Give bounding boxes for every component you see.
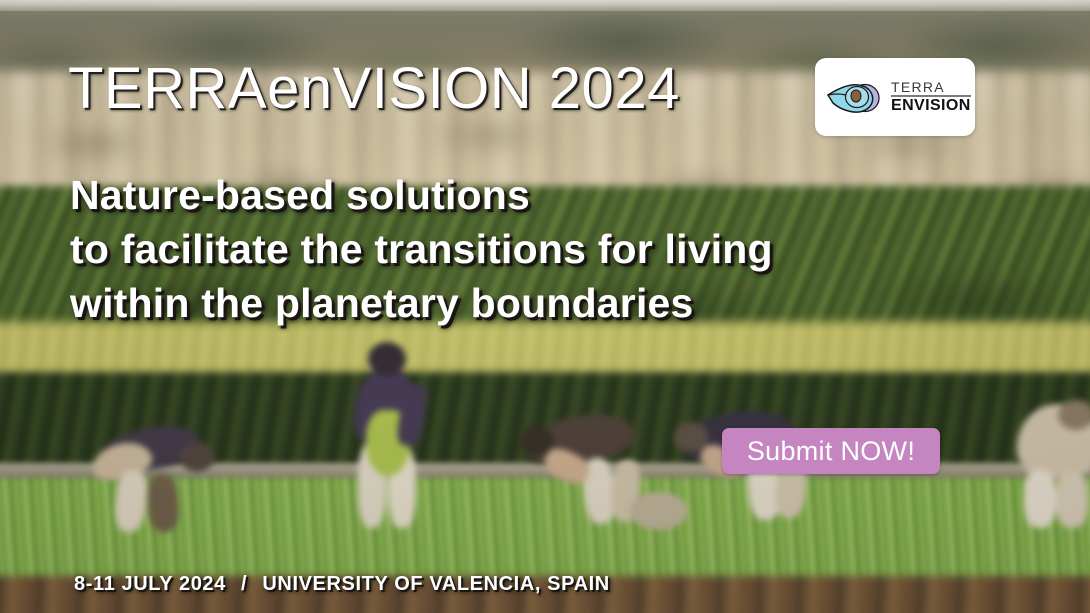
event-location: UNIVERSITY OF VALENCIA, SPAIN bbox=[262, 573, 609, 595]
terra-envision-logo[interactable]: TERRA ENVISION bbox=[815, 58, 975, 136]
event-dates: 8-11 JULY 2024 bbox=[74, 573, 226, 595]
subtitle-line-1: Nature-based solutions bbox=[70, 168, 773, 222]
event-details: 8-11 JULY 2024 / UNIVERSITY OF VALENCIA,… bbox=[74, 573, 610, 596]
logo-envision-text: ENVISION bbox=[891, 98, 971, 115]
subtitle-line-2: to facilitate the transitions for living bbox=[70, 222, 773, 276]
conference-banner: TERRAenVISION 2024 Nature-based solution… bbox=[0, 0, 1090, 613]
detail-separator: / bbox=[232, 573, 256, 595]
banner-content: TERRAenVISION 2024 Nature-based solution… bbox=[0, 0, 1090, 613]
submit-now-button[interactable]: Submit NOW! bbox=[722, 428, 940, 474]
logo-wordmark: TERRA ENVISION bbox=[891, 80, 971, 115]
banner-subtitle: Nature-based solutions to facilitate the… bbox=[70, 168, 773, 330]
logo-terra-text: TERRA bbox=[891, 80, 971, 95]
subtitle-line-3: within the planetary boundaries bbox=[70, 276, 773, 330]
terra-eye-leaf-icon bbox=[826, 75, 884, 119]
page-title: TERRAenVISION 2024 bbox=[68, 59, 680, 120]
